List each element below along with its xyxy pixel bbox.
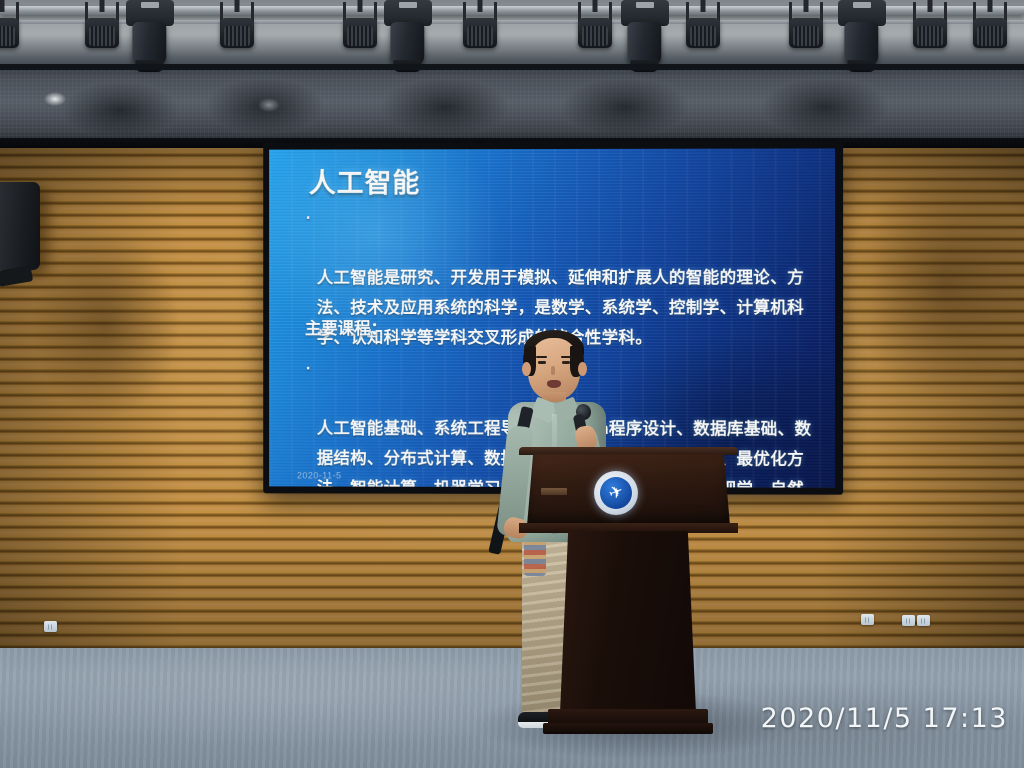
presenter-eyebrow-right — [561, 356, 572, 358]
light-canister — [973, 18, 1007, 48]
presenter-mouth — [547, 380, 561, 388]
light-lens — [467, 26, 493, 46]
light-badge — [636, 2, 654, 8]
light-canister — [686, 18, 720, 48]
podium-name-plate — [541, 488, 567, 495]
outlet-slot — [48, 624, 54, 629]
presenter-eye-left — [538, 361, 546, 364]
presenter-eyebrow-left — [536, 356, 547, 358]
light-reflection-shadow — [380, 78, 510, 136]
light-badge — [853, 2, 871, 8]
upper-band-top-edge — [0, 64, 1024, 70]
light-lens — [0, 26, 15, 46]
light-lens — [690, 26, 716, 46]
lectern-podium: ✈ — [519, 447, 738, 747]
presenter-eye-right — [562, 361, 570, 364]
light-canister — [85, 18, 119, 48]
light-reflection-glow — [44, 92, 66, 106]
light-lens — [793, 26, 819, 46]
presenter-nose — [551, 366, 555, 375]
light-lens — [917, 26, 943, 46]
light-reflection-shadow — [60, 82, 180, 138]
light-lens — [89, 26, 115, 46]
wall-mounted-speaker — [0, 182, 40, 270]
light-lens — [582, 26, 608, 46]
presenter-ear-left — [522, 362, 531, 376]
podium-base-lower — [543, 723, 713, 734]
podium-front-panel: ✈ — [527, 454, 730, 526]
light-lens — [977, 26, 1003, 46]
light-canister — [789, 18, 823, 48]
light-reflection-glow — [258, 98, 280, 112]
light-reflection-shadow — [560, 78, 690, 136]
light-canister — [463, 18, 497, 48]
presenter-ear-right — [578, 362, 587, 376]
light-canister — [0, 18, 19, 48]
light-canister — [913, 18, 947, 48]
wall-shadow-patch — [30, 230, 180, 420]
wall-outlet — [861, 614, 874, 625]
light-canister — [220, 18, 254, 48]
wall-outlet — [902, 615, 915, 626]
wall-shadow-patch — [850, 170, 1024, 400]
upper-wall-band — [0, 64, 1024, 148]
wall-outlet — [917, 615, 930, 626]
wall-outlet — [44, 621, 57, 632]
light-reflection-shadow — [760, 78, 890, 136]
light-lens — [224, 26, 250, 46]
slide-title: 人工智能 — [309, 161, 420, 200]
camera-timestamp: 2020/11/5 17:13 — [761, 703, 1008, 734]
outlet-slot — [921, 618, 927, 623]
podium-top-surface — [519, 447, 738, 455]
outlet-slot — [906, 618, 912, 623]
light-badge — [399, 2, 417, 8]
university-crest-icon: ✈ — [594, 471, 638, 515]
outlet-slot — [865, 617, 871, 622]
bullet-marker: · — [306, 203, 312, 233]
bullet-marker: · — [306, 354, 312, 384]
light-canister — [578, 18, 612, 48]
light-lens — [347, 26, 373, 46]
light-badge — [141, 2, 159, 8]
slide-subheading: 主要课程： — [305, 315, 387, 339]
light-canister — [343, 18, 377, 48]
slide-footer-date: 2020-11-5 — [297, 470, 342, 480]
photograph-canvas: 人工智能 · 人工智能是研究、开发用于模拟、延伸和扩展人的智能的理论、方法、技术… — [0, 0, 1024, 768]
podium-column — [560, 531, 696, 713]
